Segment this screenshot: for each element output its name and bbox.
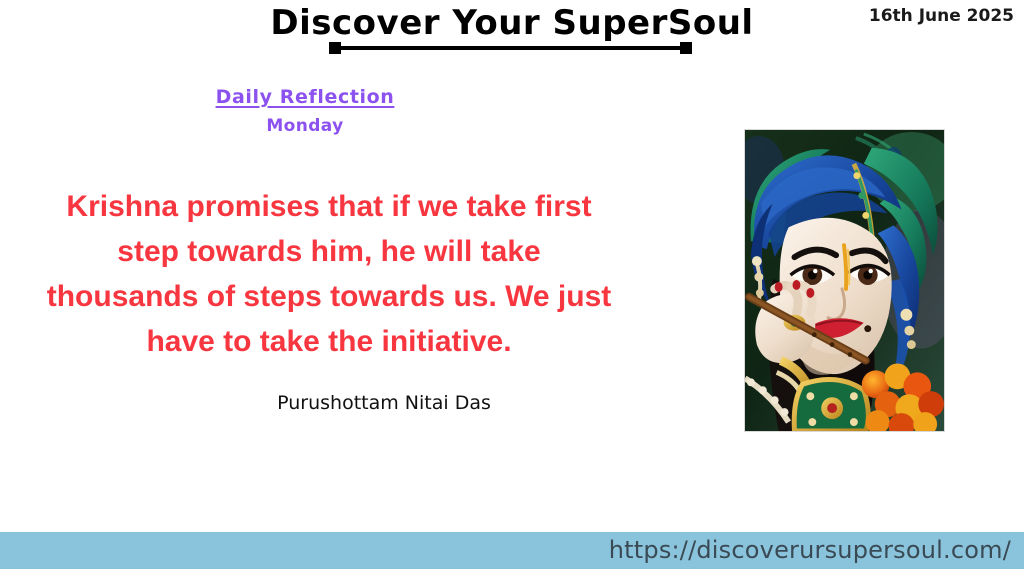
quote-line: step towards him, he will take [22,229,636,274]
krishna-deity-illustration [745,130,944,431]
title-underline-rule [331,46,690,50]
quote-author: Purushottam Nitai Das [22,390,636,416]
daily-reflection-block: Daily Reflection Monday [160,84,450,138]
quote-line: thousands of steps towards us. We just [22,274,636,319]
quote-line: have to take the initiative. [22,319,636,364]
date-stamp: 16th June 2025 [869,5,1014,27]
quote-block: Krishna promises that if we take first s… [22,184,636,364]
footer-website-url[interactable]: https://discoverursupersoul.com/ [609,534,1011,567]
reflection-weekday: Monday [160,114,450,138]
krishna-deity-photo [744,129,945,432]
quote-line: Krishna promises that if we take first [22,184,636,229]
reflection-heading: Daily Reflection [160,84,450,110]
